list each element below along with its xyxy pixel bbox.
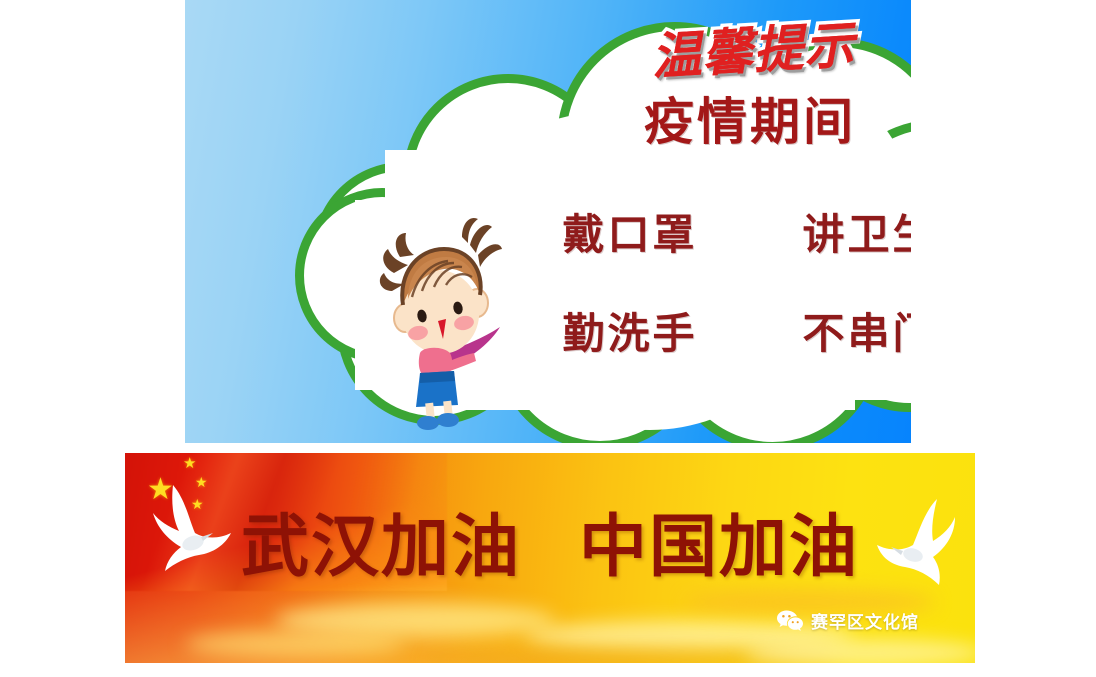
notice-title-text: 温馨提示 [621, 3, 885, 91]
wechat-icon [776, 609, 804, 633]
banner-line-wuhan: 武汉加油 [241, 507, 521, 587]
slogan-grid: 戴口罩 讲卫生 勤洗手 不串门 [515, 201, 911, 361]
banner-text-block: 武汉加油 中国加油 [125, 491, 975, 590]
headline: 疫情期间 [515, 96, 911, 149]
flag-star-1: ★ [183, 457, 196, 472]
notice-text-block: 疫情期间 戴口罩 讲卫生 勤洗手 不串门 [515, 96, 911, 361]
notice-title: 温馨提示 温馨提示 [621, 0, 885, 94]
slogan-stay-home: 不串门 [802, 300, 911, 361]
slogan-wear-mask: 戴口罩 [562, 201, 697, 262]
wechat-watermark-banner-label: 赛罕区文化馆 [811, 608, 919, 633]
cartoon-girl-mascot [378, 215, 508, 430]
slogan-wash-hands: 勤洗手 [562, 300, 697, 361]
banner-line-china: 中国加油 [579, 507, 859, 587]
banner-poster: ★ ★ ★ ★ ★ 武汉加油 中国加油 [125, 453, 975, 663]
wechat-watermark-banner: 赛罕区文化馆 [776, 608, 919, 633]
slogan-hygiene: 讲卫生 [802, 201, 911, 262]
notice-poster: 温馨提示 温馨提示 疫情期间 戴口罩 讲卫生 勤洗手 不串门 [185, 0, 911, 443]
